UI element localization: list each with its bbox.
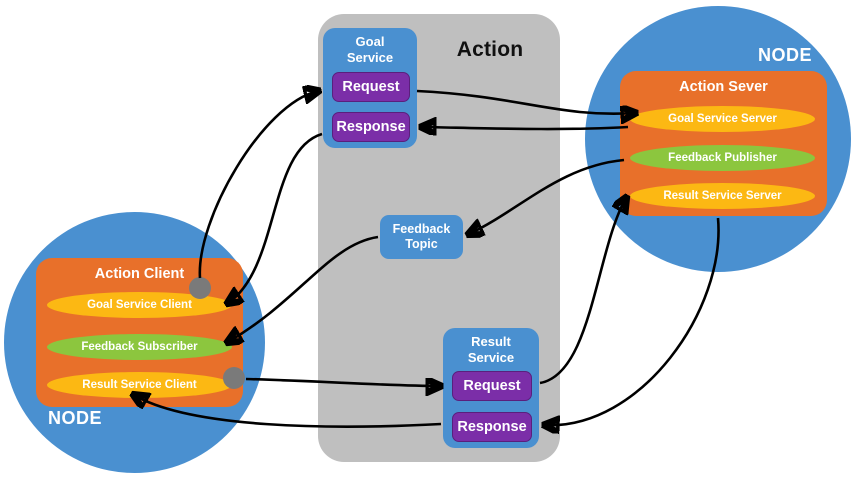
goal-service-title: Goal Service: [323, 34, 417, 66]
result-service-client-endpoint-dot: [223, 367, 245, 389]
result-service-response[interactable]: Response: [452, 412, 532, 442]
action-client-title: Action Client: [36, 266, 243, 282]
result-service-title: Result Service: [443, 334, 539, 366]
action-client-box: Action Client Goal Service Client Feedba…: [36, 258, 243, 407]
result-service-server-pill[interactable]: Result Service Server: [630, 183, 815, 209]
result-service-title-line2: Service: [468, 350, 514, 365]
result-service-request[interactable]: Request: [452, 371, 532, 401]
goal-service-title-line2: Service: [347, 50, 393, 65]
goal-service-box: Goal Service Request Response: [323, 28, 417, 148]
goal-service-title-line1: Goal: [356, 34, 385, 49]
result-service-client-pill[interactable]: Result Service Client: [47, 372, 232, 398]
goal-service-response[interactable]: Response: [332, 112, 410, 142]
goal-service-server-pill[interactable]: Goal Service Server: [630, 106, 815, 132]
goal-service-request[interactable]: Request: [332, 72, 410, 102]
action-panel-title: Action: [430, 38, 550, 62]
result-service-box: Result Service Request Response: [443, 328, 539, 448]
goal-service-client-endpoint-dot: [189, 277, 211, 299]
result-service-title-line1: Result: [471, 334, 511, 349]
diagram-canvas: Action NODE Action Client Goal Service C…: [0, 0, 854, 480]
feedback-topic-title-line1: Feedback: [393, 222, 451, 236]
feedback-topic-box[interactable]: Feedback Topic: [380, 215, 463, 259]
feedback-publisher-pill[interactable]: Feedback Publisher: [630, 145, 815, 171]
feedback-subscriber-pill[interactable]: Feedback Subscriber: [47, 334, 232, 360]
node-label-action-client: NODE: [48, 408, 102, 429]
feedback-topic-title-line2: Topic: [405, 237, 437, 251]
action-server-title: Action Sever: [620, 79, 827, 95]
feedback-topic-title: Feedback Topic: [393, 222, 451, 252]
node-label-action-server: NODE: [758, 45, 812, 66]
action-server-box: Action Sever Goal Service Server Feedbac…: [620, 71, 827, 216]
